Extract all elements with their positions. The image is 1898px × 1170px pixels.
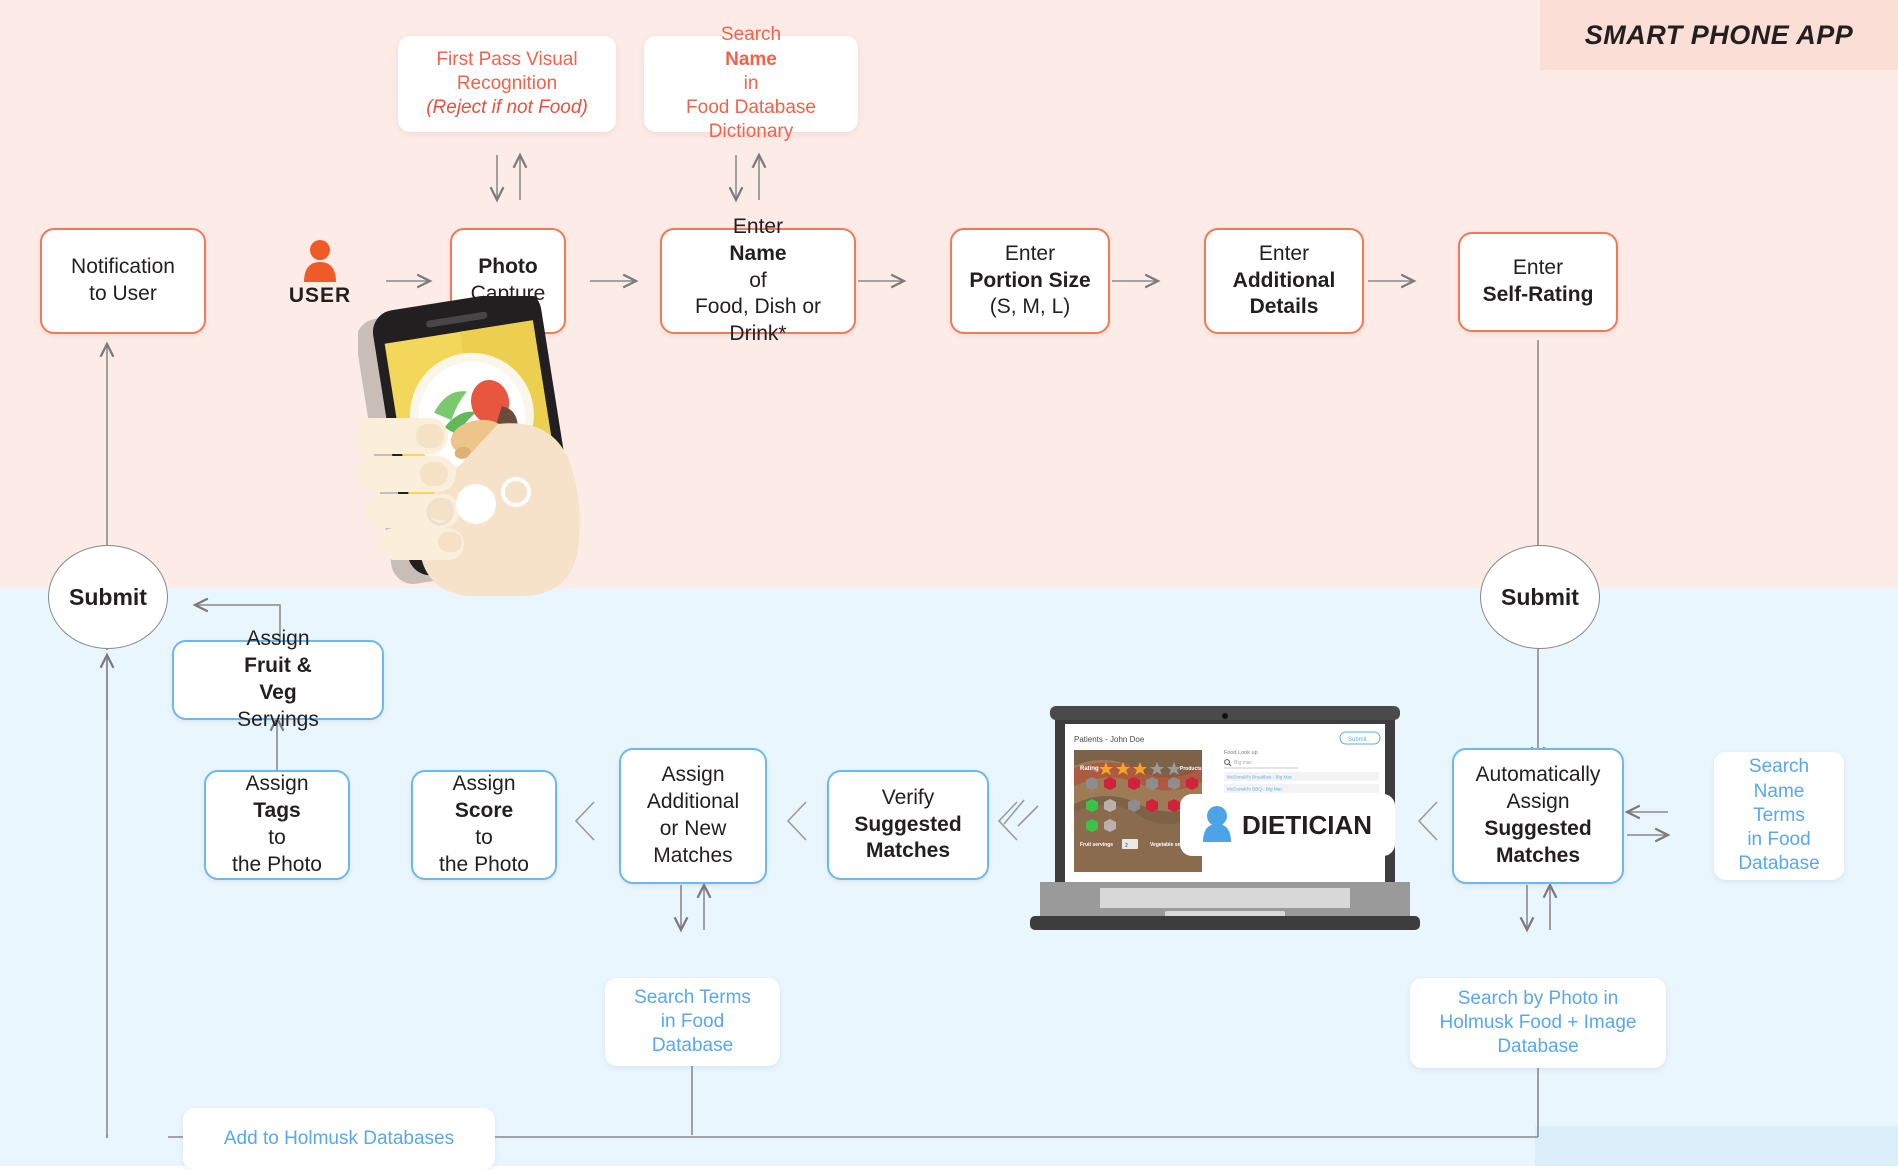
- text-post: of: [695, 268, 821, 295]
- callout-line-1: Search by Photo in: [1432, 987, 1645, 1011]
- node-line-4: Matches: [1496, 844, 1580, 867]
- callout-line-2: Food Database: [678, 96, 824, 120]
- callout-line-2: in Food: [626, 1010, 759, 1034]
- text-post: to: [232, 825, 322, 852]
- node-line-1: Notification: [63, 254, 183, 281]
- node-enter-name-of-food[interactable]: Enter Name of Food, Dish or Drink*: [660, 228, 856, 334]
- node-assign-additional-or-new-matches[interactable]: Assign Additional or New Matches: [619, 748, 767, 884]
- node-line-2: Food, Dish or: [687, 294, 829, 321]
- hand-holding-phone-illustration: [358, 296, 628, 596]
- node-enter-additional-details[interactable]: Enter Additional Details: [1204, 228, 1364, 334]
- callout-line-5: Database: [1730, 852, 1827, 876]
- node-line-2: Tags to: [224, 798, 330, 852]
- laptop-rating-label: Rating: [1080, 766, 1099, 772]
- text-bold: Fruit &: [244, 654, 312, 677]
- callout-line-1: Search Terms: [626, 986, 759, 1010]
- callout-line-3: Database: [1432, 1035, 1645, 1059]
- node-line-1: Enter Name of: [687, 214, 829, 295]
- laptop-submit-button: Submit: [1348, 737, 1367, 743]
- node-assign-tags-to-photo[interactable]: Assign Tags to the Photo: [204, 770, 350, 880]
- text-pre: Assign: [229, 626, 327, 653]
- text-bold: Veg: [259, 681, 296, 704]
- node-line-3: Drink*: [687, 321, 829, 348]
- laptop-lookup-placeholder: Big mac: [1234, 760, 1253, 766]
- callout-line-1: First Pass Visual: [418, 48, 596, 72]
- node-line-1: Assign: [224, 771, 330, 798]
- text-pre: Enter: [695, 214, 821, 241]
- callout-line-3: (Reject if not Food): [418, 96, 596, 120]
- node-line-1: Assign: [639, 762, 747, 789]
- callout-search-terms-in-food-database[interactable]: Search Terms in Food Database: [605, 978, 780, 1066]
- node-line-2: Veg Servings: [221, 680, 335, 734]
- user-icon: [301, 238, 339, 282]
- laptop-products-label: Products: [1180, 766, 1202, 772]
- node-line-1: Photo: [478, 255, 537, 278]
- node-assign-score-to-photo[interactable]: Assign Score to the Photo: [411, 770, 557, 880]
- node-line-3: the Photo: [431, 852, 537, 879]
- node-line-1: Verify: [837, 785, 979, 812]
- laptop-lookup-title: Food Look up: [1224, 750, 1258, 756]
- node-automatically-assign-suggested-matches[interactable]: Automatically Assign Suggested Matches: [1452, 748, 1624, 884]
- text-bold: Name: [725, 49, 777, 70]
- callout-line-2: Name: [1730, 780, 1827, 804]
- footer-band: [1535, 1126, 1898, 1166]
- diagram-canvas: SMART PHONE APP: [0, 0, 1898, 1166]
- svg-text:McDonald's Breakfast - Big Mac: McDonald's Breakfast - Big Mac: [1227, 775, 1293, 780]
- node-line-1: Enter: [1214, 241, 1354, 268]
- node-line-3: the Photo: [224, 852, 330, 879]
- submit-right-label: Submit: [1501, 584, 1579, 611]
- node-line-2: Score to: [431, 798, 537, 852]
- node-assign-fruit-veg-servings[interactable]: Assign Fruit & Veg Servings: [172, 640, 384, 720]
- node-line-2: Suggested: [854, 813, 961, 836]
- node-line-1: Enter: [969, 241, 1090, 268]
- node-line-1: Automatically: [1462, 762, 1614, 789]
- node-line-2: Portion Size: [969, 269, 1090, 292]
- laptop-dietician-illustration: Patients - John Doe Submit Rating Produc…: [1030, 706, 1420, 938]
- text-bold: Score: [455, 799, 513, 822]
- node-line-3: Details: [1250, 295, 1319, 318]
- callout-line-2: Recognition: [418, 72, 596, 96]
- submit-left-label: Submit: [69, 584, 147, 611]
- text-post: in: [686, 72, 816, 96]
- user-actor: USER: [282, 238, 358, 308]
- laptop-footer-value: 2: [1125, 843, 1128, 849]
- callout-line-1: Add to Holmusk Databases: [216, 1127, 462, 1151]
- node-line-3: Suggested: [1484, 817, 1591, 840]
- node-line-2: Additional: [639, 789, 747, 816]
- node-line-3: Matches: [866, 839, 950, 862]
- callout-search-name-in-food-database-dictionary[interactable]: Search Name in Food Database Dictionary: [644, 36, 858, 132]
- node-line-2: Assign: [1462, 789, 1614, 816]
- node-line-2: to User: [63, 281, 183, 308]
- text-post: to: [439, 825, 529, 852]
- callout-first-pass-visual-recognition[interactable]: First Pass Visual Recognition (Reject if…: [398, 36, 616, 132]
- node-line-1: Enter: [1483, 255, 1594, 282]
- text-pre: Search: [686, 23, 816, 47]
- page-title: SMART PHONE APP: [1540, 0, 1898, 70]
- callout-line-4: in Food: [1730, 828, 1827, 852]
- callout-add-to-holmusk-databases[interactable]: Add to Holmusk Databases: [183, 1108, 495, 1170]
- node-line-1: Assign Fruit &: [221, 626, 335, 680]
- node-verify-suggested-matches[interactable]: Verify Suggested Matches: [827, 770, 989, 880]
- callout-search-name-terms-in-food-database[interactable]: Search Name Terms in Food Database: [1714, 752, 1844, 880]
- node-line-3: (S, M, L): [969, 294, 1090, 321]
- node-line-2: Self-Rating: [1483, 283, 1594, 306]
- node-enter-portion-size[interactable]: Enter Portion Size (S, M, L): [950, 228, 1110, 334]
- callout-line-3: Database: [626, 1034, 759, 1058]
- callout-line-1: Search: [1730, 755, 1827, 779]
- node-line-3: or New: [639, 816, 747, 843]
- laptop-footer-left: Fruit servings: [1080, 842, 1113, 848]
- submit-circle-left[interactable]: Submit: [48, 545, 168, 649]
- text-bold: Name: [729, 242, 786, 265]
- node-line-4: Matches: [639, 843, 747, 870]
- node-line-2: Additional: [1233, 269, 1336, 292]
- node-line-1: Assign: [431, 771, 537, 798]
- user-label: USER: [289, 284, 351, 308]
- node-enter-self-rating[interactable]: Enter Self-Rating: [1458, 232, 1618, 332]
- callout-line-3: Terms: [1730, 804, 1827, 828]
- text-bold: Tags: [253, 799, 300, 822]
- dietician-label: DIETICIAN: [1242, 810, 1372, 840]
- callout-line-1: Search Name in: [678, 23, 824, 96]
- text-post: Servings: [229, 707, 327, 734]
- callout-line-3: Dictionary: [678, 120, 824, 144]
- callout-line-2: Holmusk Food + Image: [1432, 1011, 1645, 1035]
- node-notification-to-user[interactable]: Notification to User: [40, 228, 206, 334]
- callout-search-by-photo-in-holmusk-database[interactable]: Search by Photo in Holmusk Food + Image …: [1410, 978, 1666, 1068]
- laptop-patient-line: Patients - John Doe: [1074, 735, 1145, 744]
- svg-text:McDonald's BBQ - Big Mac: McDonald's BBQ - Big Mac: [1227, 787, 1283, 792]
- submit-circle-right[interactable]: Submit: [1480, 545, 1600, 649]
